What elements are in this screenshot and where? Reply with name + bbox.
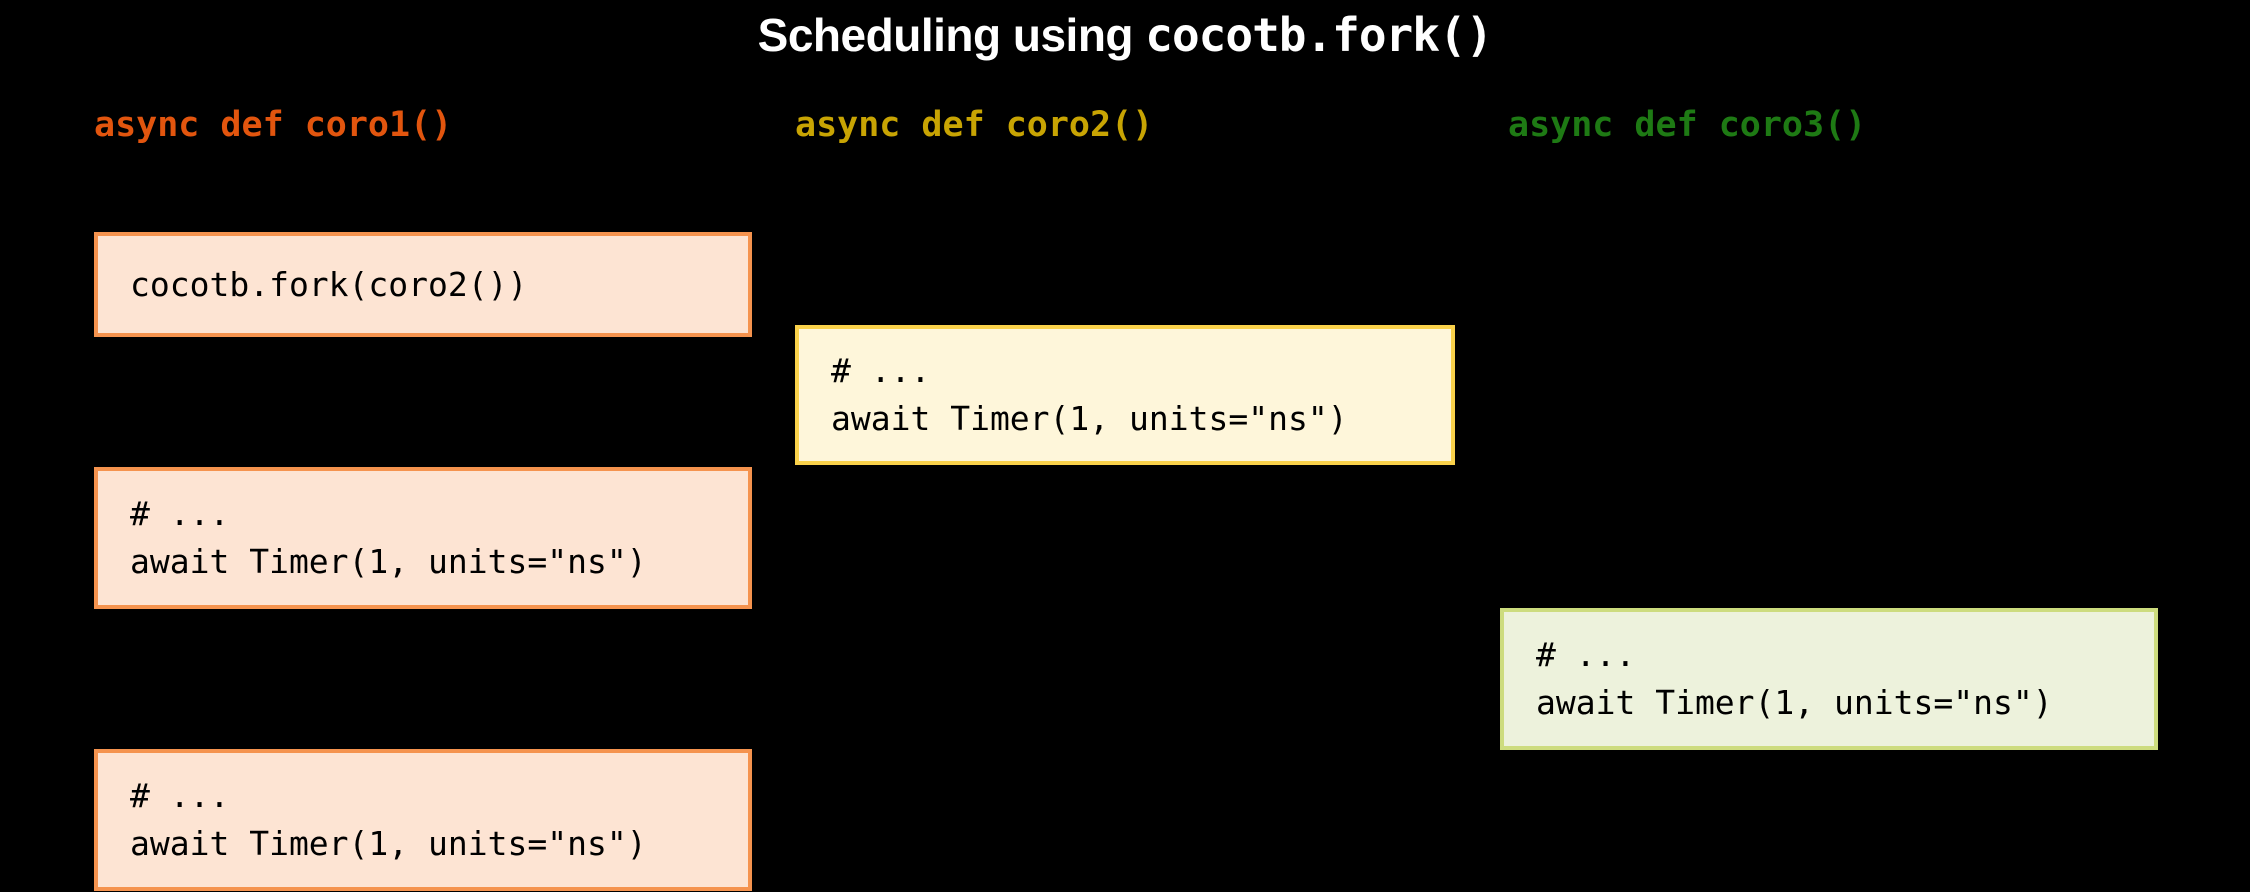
code-box-coro1-2: # ... await Timer(1, units="ns") [94, 467, 752, 609]
code-line: await Timer(1, units="ns") [130, 820, 726, 868]
slide-canvas: Scheduling using cocotb.fork() async def… [0, 0, 2250, 892]
code-box-coro2-1: # ... await Timer(1, units="ns") [795, 325, 1455, 465]
code-box-coro1-3: # ... await Timer(1, units="ns") [94, 749, 752, 891]
column-header-coro2: async def coro2() [795, 108, 1153, 143]
code-line: # ... [130, 772, 726, 820]
page-title-prose: Scheduling using [758, 9, 1146, 61]
column-header-coro3: async def coro3() [1508, 108, 1866, 143]
code-line: # ... [831, 347, 1429, 395]
code-line: # ... [130, 490, 726, 538]
code-line: await Timer(1, units="ns") [1536, 679, 2132, 727]
code-box-coro3-1: # ... await Timer(1, units="ns") [1500, 608, 2158, 750]
code-line: cocotb.fork(coro2()) [130, 261, 726, 309]
code-box-coro1-1: cocotb.fork(coro2()) [94, 232, 752, 337]
code-line: await Timer(1, units="ns") [831, 395, 1429, 443]
page-title: Scheduling using cocotb.fork() [0, 10, 2250, 61]
code-line: await Timer(1, units="ns") [130, 538, 726, 586]
page-title-code: cocotb.fork() [1145, 8, 1492, 62]
column-header-coro1: async def coro1() [94, 108, 452, 143]
code-line: # ... [1536, 631, 2132, 679]
